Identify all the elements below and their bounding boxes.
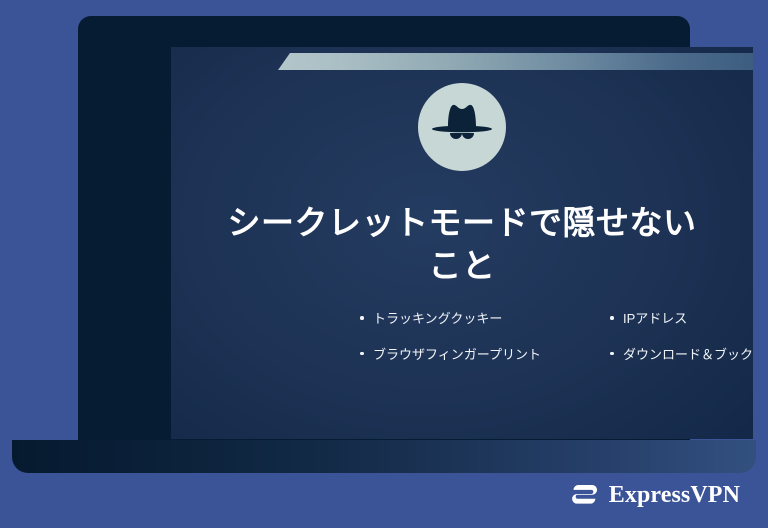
list-item-label: ブラウザフィンガープリント bbox=[373, 347, 541, 362]
laptop-bezel: シークレットモードで隠せないこと トラッキングクッキー ブラウザフィンガープリン… bbox=[78, 16, 690, 440]
screenshot-canvas: シークレットモードで隠せないこと トラッキングクッキー ブラウザフィンガープリン… bbox=[0, 0, 768, 528]
bullet-dot-icon bbox=[610, 352, 614, 356]
bullet-dot-icon bbox=[610, 316, 614, 320]
laptop-screen: シークレットモードで隠せないこと トラッキングクッキー ブラウザフィンガープリン… bbox=[171, 47, 753, 439]
expressvpn-logo: ExpressVPN bbox=[569, 480, 740, 511]
list-item-label: トラッキングクッキー bbox=[373, 311, 502, 326]
list-item-label: ダウンロード＆ブックマーク bbox=[623, 347, 753, 362]
list-item: IPアドレス bbox=[610, 309, 753, 329]
incognito-hat-icon bbox=[418, 83, 506, 171]
list-item: トラッキングクッキー bbox=[360, 309, 555, 329]
bullet-columns: トラッキングクッキー ブラウザフィンガープリント IPアドレス bbox=[264, 309, 753, 381]
bullet-column-left: トラッキングクッキー ブラウザフィンガープリント bbox=[264, 309, 555, 381]
incognito-hat-glyph bbox=[418, 83, 506, 171]
laptop-base bbox=[12, 440, 756, 473]
expressvpn-e-mark-icon bbox=[569, 480, 600, 511]
brand-wordmark: ExpressVPN bbox=[609, 482, 740, 509]
slide-title: シークレットモードで隠せないこと bbox=[212, 202, 712, 288]
bullet-column-right: IPアドレス ダウンロード＆ブックマーク bbox=[555, 309, 753, 381]
list-item-label: IPアドレス bbox=[623, 311, 687, 326]
list-item: ダウンロード＆ブックマーク bbox=[610, 345, 753, 365]
screen-glare-stripe bbox=[278, 53, 753, 70]
laptop-illustration: シークレットモードで隠せないこと トラッキングクッキー ブラウザフィンガープリン… bbox=[0, 0, 768, 528]
bullet-dot-icon bbox=[360, 316, 364, 320]
list-item: ブラウザフィンガープリント bbox=[360, 345, 555, 365]
bullet-dot-icon bbox=[360, 352, 364, 356]
